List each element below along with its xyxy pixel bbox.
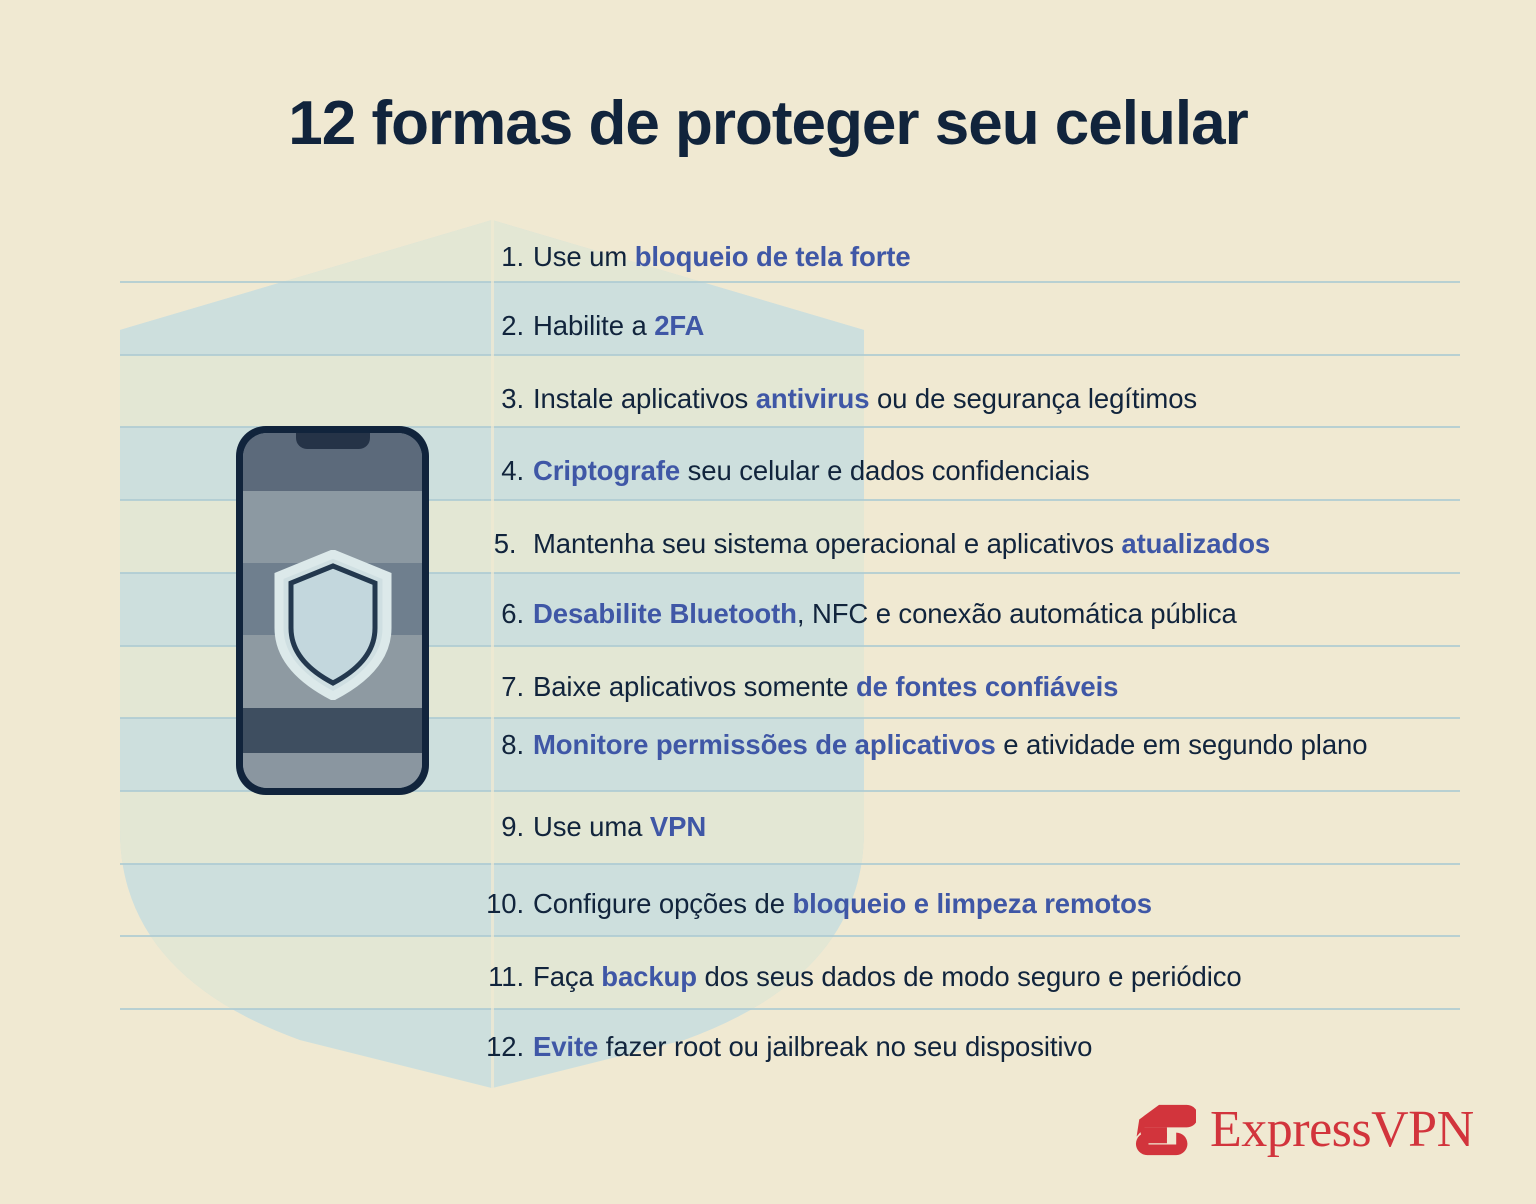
list-item-highlight: antivirus	[756, 383, 870, 414]
list-item-number: 4.	[400, 452, 533, 490]
list-item-text-tail: fazer root ou jailbreak no seu dispositi…	[598, 1031, 1092, 1062]
list-item-text: Instale aplicativos antivirus ou de segu…	[533, 380, 1510, 418]
list-item: 9.Use uma VPN	[400, 808, 1510, 846]
list-item-text-plain: Use um	[533, 241, 635, 272]
list-item-number: 8.	[400, 726, 533, 764]
list-item-text: Mantenha seu sistema operacional e aplic…	[533, 525, 1510, 563]
list-item-number: 6.	[400, 595, 533, 633]
list-item-number: 1.	[400, 238, 533, 276]
expressvpn-wordmark: ExpressVPN	[1210, 1104, 1474, 1156]
list-item-highlight: backup	[601, 961, 697, 992]
list-item: 6.Desabilite Bluetooth, NFC e conexão au…	[400, 595, 1510, 633]
list-item-number: 3.	[400, 380, 533, 418]
list-item-number: 9.	[400, 808, 533, 846]
list-item-number: 2.	[400, 307, 533, 345]
list-item-highlight: Desabilite Bluetooth	[533, 598, 797, 629]
list-item-highlight: VPN	[650, 811, 706, 842]
phone-notch	[296, 433, 370, 449]
list-item: 7.Baixe aplicativos somente de fontes co…	[400, 668, 1510, 706]
expressvpn-e-mark	[1130, 1097, 1196, 1163]
list-item-text-tail: dos seus dados de modo seguro e periódic…	[697, 961, 1242, 992]
list-item-text: Use uma VPN	[533, 808, 1510, 846]
list-item: 12.Evite fazer root ou jailbreak no seu …	[400, 1028, 1510, 1066]
list-item-text: Faça backup dos seus dados de modo segur…	[533, 958, 1510, 996]
list-item-text: Desabilite Bluetooth, NFC e conexão auto…	[533, 595, 1510, 633]
list-item: 3.Instale aplicativos antivirus ou de se…	[400, 380, 1510, 418]
list-item-text-plain: Mantenha seu sistema operacional e aplic…	[533, 528, 1121, 559]
list-item-number: 12.	[400, 1028, 533, 1066]
list-item: 4.Criptografe seu celular e dados confid…	[400, 452, 1510, 490]
list-item-number: 7.	[400, 668, 533, 706]
list-item-highlight: Criptografe	[533, 455, 680, 486]
list-item-text: Configure opções de bloqueio e limpeza r…	[533, 885, 1510, 923]
list-item-text: Baixe aplicativos somente de fontes conf…	[533, 668, 1510, 706]
list-item-text: Evite fazer root ou jailbreak no seu dis…	[533, 1028, 1510, 1066]
list-item-number: 10.	[400, 885, 533, 923]
list-item-number: 11.	[400, 958, 533, 996]
list-item-highlight: Monitore permissões de aplicativos	[533, 729, 996, 760]
list-item-highlight: bloqueio de tela forte	[635, 241, 911, 272]
list-item-text-plain: Instale aplicativos	[533, 383, 756, 414]
list-item-text-tail: , NFC e conexão automática pública	[797, 598, 1237, 629]
list-item-text-plain: Faça	[533, 961, 601, 992]
list-item-text: Monitore permissões de aplicativos e ati…	[533, 726, 1510, 764]
list-item: 2.Habilite a 2FA	[400, 307, 1510, 345]
list-item-text-tail: e atividade em segundo plano	[996, 729, 1368, 760]
list-item-text: Habilite a 2FA	[533, 307, 1510, 345]
list-item-text: Use um bloqueio de tela forte	[533, 238, 1510, 276]
list-item-text-tail: seu celular e dados confidenciais	[680, 455, 1089, 486]
list-item-text-plain: Baixe aplicativos somente	[533, 671, 856, 702]
list-item-highlight: bloqueio e limpeza remotos	[792, 888, 1152, 919]
list-item: 10.Configure opções de bloqueio e limpez…	[400, 885, 1510, 923]
list-item-text: Criptografe seu celular e dados confiden…	[533, 452, 1510, 490]
list-item: 1.Use um bloqueio de tela forte	[400, 238, 1510, 276]
tips-list: 1.Use um bloqueio de tela forte2.Habilit…	[0, 0, 1536, 1204]
list-item-highlight: de fontes confiáveis	[856, 671, 1118, 702]
list-item: 5. Mantenha seu sistema operacional e ap…	[400, 525, 1510, 563]
list-item-text-tail: ou de segurança legítimos	[869, 383, 1197, 414]
list-item-highlight: 2FA	[654, 310, 704, 341]
infographic-page: 12 formas de proteger seu celular 1.Use …	[0, 0, 1536, 1204]
list-item: 8.Monitore permissões de aplicativos e a…	[400, 726, 1510, 764]
list-item-text-plain: Habilite a	[533, 310, 654, 341]
list-item-text-plain: Configure opções de	[533, 888, 792, 919]
list-item-highlight: Evite	[533, 1031, 598, 1062]
list-item: 11.Faça backup dos seus dados de modo se…	[400, 958, 1510, 996]
shield-on-screen	[271, 550, 395, 700]
list-item-number: 5.	[400, 525, 533, 563]
list-item-highlight: atualizados	[1121, 528, 1270, 559]
expressvpn-logo: ExpressVPN	[1130, 1097, 1474, 1163]
list-item-text-plain: Use uma	[533, 811, 650, 842]
